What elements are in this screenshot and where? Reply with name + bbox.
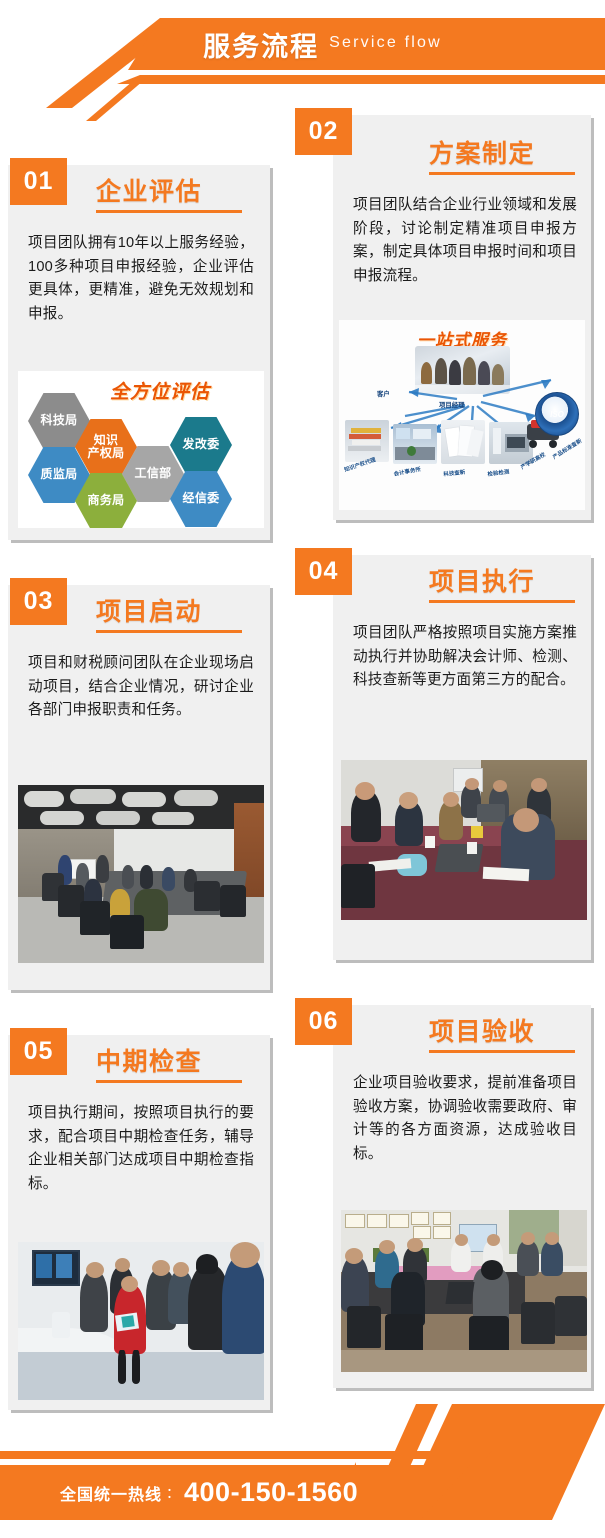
acceptance-meeting-photo bbox=[341, 1210, 587, 1372]
oss-thumb-ip bbox=[345, 420, 389, 462]
card-01[interactable]: 01 企业评估 项目团队拥有10年以上服务经验，100多种项目申报经验，企业评估… bbox=[8, 158, 280, 540]
card-title: 项目启动 bbox=[96, 592, 202, 628]
hex-label: 知识 产权局 bbox=[86, 434, 127, 461]
card-title: 项目执行 bbox=[429, 562, 535, 598]
card-body-text: 项目执行期间，按照项目执行的要求，配合项目中期检查任务，辅导企业相关部门达成项目… bbox=[28, 1102, 254, 1197]
card-body-text: 项目和财税顾问团队在企业现场启动项目，结合企业情况，研讨企业各部门申报职责和任务… bbox=[28, 652, 254, 723]
card-number-badge: 03 bbox=[10, 578, 67, 625]
card-body-text: 项目团队结合企业行业领域和发展阶段，讨论制定精准项目申报方案，制定具体项目申报时… bbox=[353, 194, 577, 289]
hex-label: 科技局 bbox=[39, 414, 80, 427]
oss-thumb-novelty bbox=[441, 420, 485, 464]
hex-label: 发改委 bbox=[181, 438, 222, 451]
header-banner: 服务流程 Service flow bbox=[0, 18, 605, 108]
title-underline bbox=[96, 210, 242, 213]
oss-iso-seal: ISO bbox=[535, 392, 579, 436]
card-number-badge: 01 bbox=[10, 158, 67, 205]
title-underline bbox=[429, 172, 575, 175]
title-underline bbox=[429, 1050, 575, 1053]
hexagon-assessment-diagram: 全方位评估 科技局 知识 产权局 发改委 质监局 工信部 经信委 商务局 bbox=[18, 371, 264, 528]
card-06[interactable]: 06 项目验收 企业项目验收要求，提前准备项目验收方案，协调验收需要政府、审计等… bbox=[295, 998, 597, 1388]
title-underline bbox=[96, 630, 242, 633]
site-visit-photo bbox=[18, 1242, 264, 1400]
card-05[interactable]: 05 中期检查 项目执行期间，按照项目执行的要求，配合项目中期检查任务，辅导企业… bbox=[8, 1028, 280, 1410]
card-body-text: 企业项目验收要求，提前准备项目验收方案，协调验收需要政府、审计等的各方面资源，达… bbox=[353, 1072, 577, 1167]
card-title: 方案制定 bbox=[429, 134, 535, 170]
card-03[interactable]: 03 项目启动 项目和财税顾问团队在企业现场启动项目，结合企业情况，研讨企业各部… bbox=[8, 578, 280, 990]
card-number-badge: 05 bbox=[10, 1028, 67, 1075]
oss-node-pm: 项目经理 bbox=[439, 400, 465, 409]
card-title: 中期检查 bbox=[96, 1042, 202, 1078]
one-stop-service-diagram: 一站式服务 bbox=[339, 320, 585, 510]
banner-bar bbox=[0, 18, 605, 70]
hex-node-fagaiwei: 发改委 bbox=[170, 417, 232, 473]
card-number-badge: 06 bbox=[295, 998, 352, 1045]
card-04[interactable]: 04 项目执行 项目团队严格按照项目实施方案推动执行并协助解决会计师、检测、科技… bbox=[295, 548, 597, 960]
card-body-text: 项目团队拥有10年以上服务经验，100多种项目申报经验，企业评估更具体，更精准，… bbox=[28, 232, 254, 327]
title-underline bbox=[96, 1080, 242, 1083]
hex-label: 质监局 bbox=[39, 468, 80, 481]
card-number-badge: 04 bbox=[295, 548, 352, 595]
conference-room-photo bbox=[18, 785, 264, 963]
card-title: 项目验收 bbox=[429, 1012, 535, 1048]
card-body-text: 项目团队严格按照项目实施方案推动执行并协助解决会计师、检测、科技查新等更方面第三… bbox=[353, 622, 577, 693]
hexagon-diagram-title: 全方位评估 bbox=[110, 377, 210, 404]
hex-label: 经信委 bbox=[181, 492, 222, 505]
card-02[interactable]: 02 方案制定 项目团队结合企业行业领域和发展阶段，讨论制定精准项目申报方案，制… bbox=[295, 108, 597, 520]
oss-thumb-accounting bbox=[393, 424, 437, 464]
meeting-laptops-photo bbox=[341, 760, 587, 920]
card-title: 企业评估 bbox=[96, 172, 202, 208]
hex-label: 工信部 bbox=[133, 467, 174, 480]
title-underline bbox=[429, 600, 575, 603]
poster-root: 服务流程 Service flow 01 企业评估 项目团队拥有10年以上服务经… bbox=[0, 0, 605, 1538]
hex-label: 商务局 bbox=[86, 494, 127, 507]
oss-node-kehu: 客户 bbox=[377, 389, 390, 398]
footer: 全国统一热线 ： 400-150-1560 bbox=[0, 1398, 605, 1538]
card-number-badge: 02 bbox=[295, 108, 352, 155]
